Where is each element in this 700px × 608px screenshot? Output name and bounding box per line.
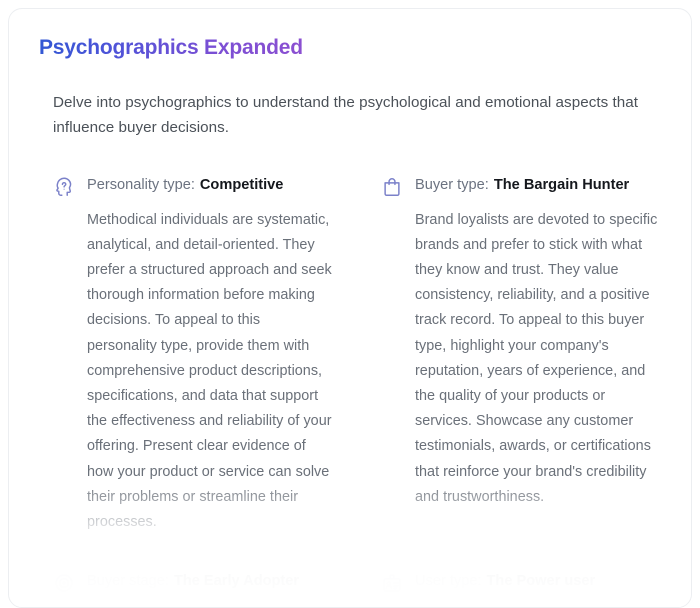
item-body: Brand loyalists are devoted to specific … (415, 208, 661, 510)
card-content: Psychographics Expanded Delve into psych… (9, 9, 691, 608)
item-value: Competitive (200, 177, 284, 193)
item-buyer-stage: Buyer stage:The Early Adopter Early adop… (53, 571, 333, 608)
id-badge-icon (381, 572, 403, 594)
shopping-bag-icon (381, 176, 403, 198)
item-header: Buyer type:The Bargain Hunter (415, 175, 661, 196)
item-label: Buyer type: (415, 177, 489, 193)
item-header: Buyer stage:The Early Adopter (87, 571, 333, 592)
item-value: The Early Adopter (174, 573, 299, 589)
item-body: Early adopters are enthusiastic individu… (87, 604, 333, 608)
psychographics-grid: Personality type:Competitive Methodical … (53, 175, 661, 608)
intro-description: Delve into psychographics to understand … (53, 91, 661, 140)
psychographics-card: Psychographics Expanded Delve into psych… (8, 8, 692, 608)
item-label: Personality type: (87, 177, 195, 193)
head-question-icon (53, 176, 75, 198)
item-body: Brand loyalists are devoted to specific … (415, 604, 661, 608)
item-value: The Power user (487, 573, 596, 589)
item-label: Buyer stage: (87, 573, 169, 589)
item-buyer-type: Buyer type:The Bargain Hunter Brand loya… (381, 175, 661, 536)
item-personality-type: Personality type:Competitive Methodical … (53, 175, 333, 536)
item-user-type: User type:The Power user Brand loyalists… (381, 571, 661, 608)
page-title: Psychographics Expanded (39, 35, 303, 61)
item-value: The Bargain Hunter (494, 177, 629, 193)
target-icon (53, 572, 75, 594)
item-header: Personality type:Competitive (87, 175, 333, 196)
item-body: Methodical individuals are systematic, a… (87, 208, 333, 536)
item-header: User type:The Power user (415, 571, 661, 592)
item-label: User type: (415, 573, 482, 589)
